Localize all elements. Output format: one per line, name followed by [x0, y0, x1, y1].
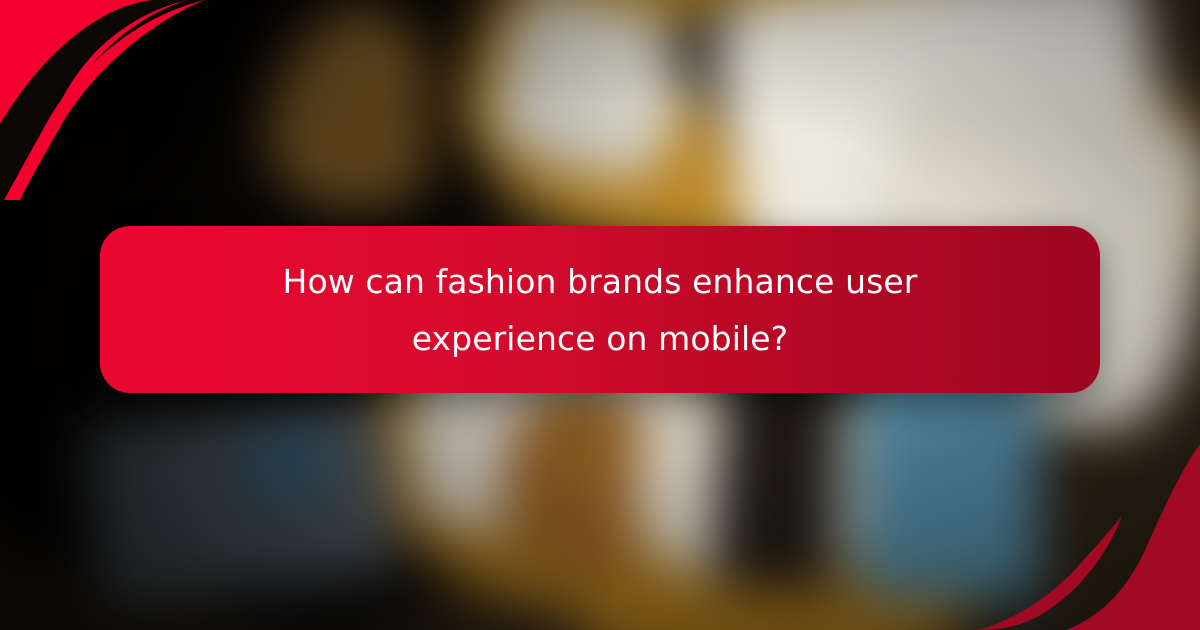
- question-card: How can fashion brands enhance user expe…: [100, 226, 1100, 393]
- question-text: How can fashion brands enhance user expe…: [250, 253, 950, 367]
- share-card-canvas: How can fashion brands enhance user expe…: [0, 0, 1200, 630]
- bottom-right-swoosh-icon: [970, 420, 1200, 630]
- top-left-swoosh-icon: [0, 0, 220, 200]
